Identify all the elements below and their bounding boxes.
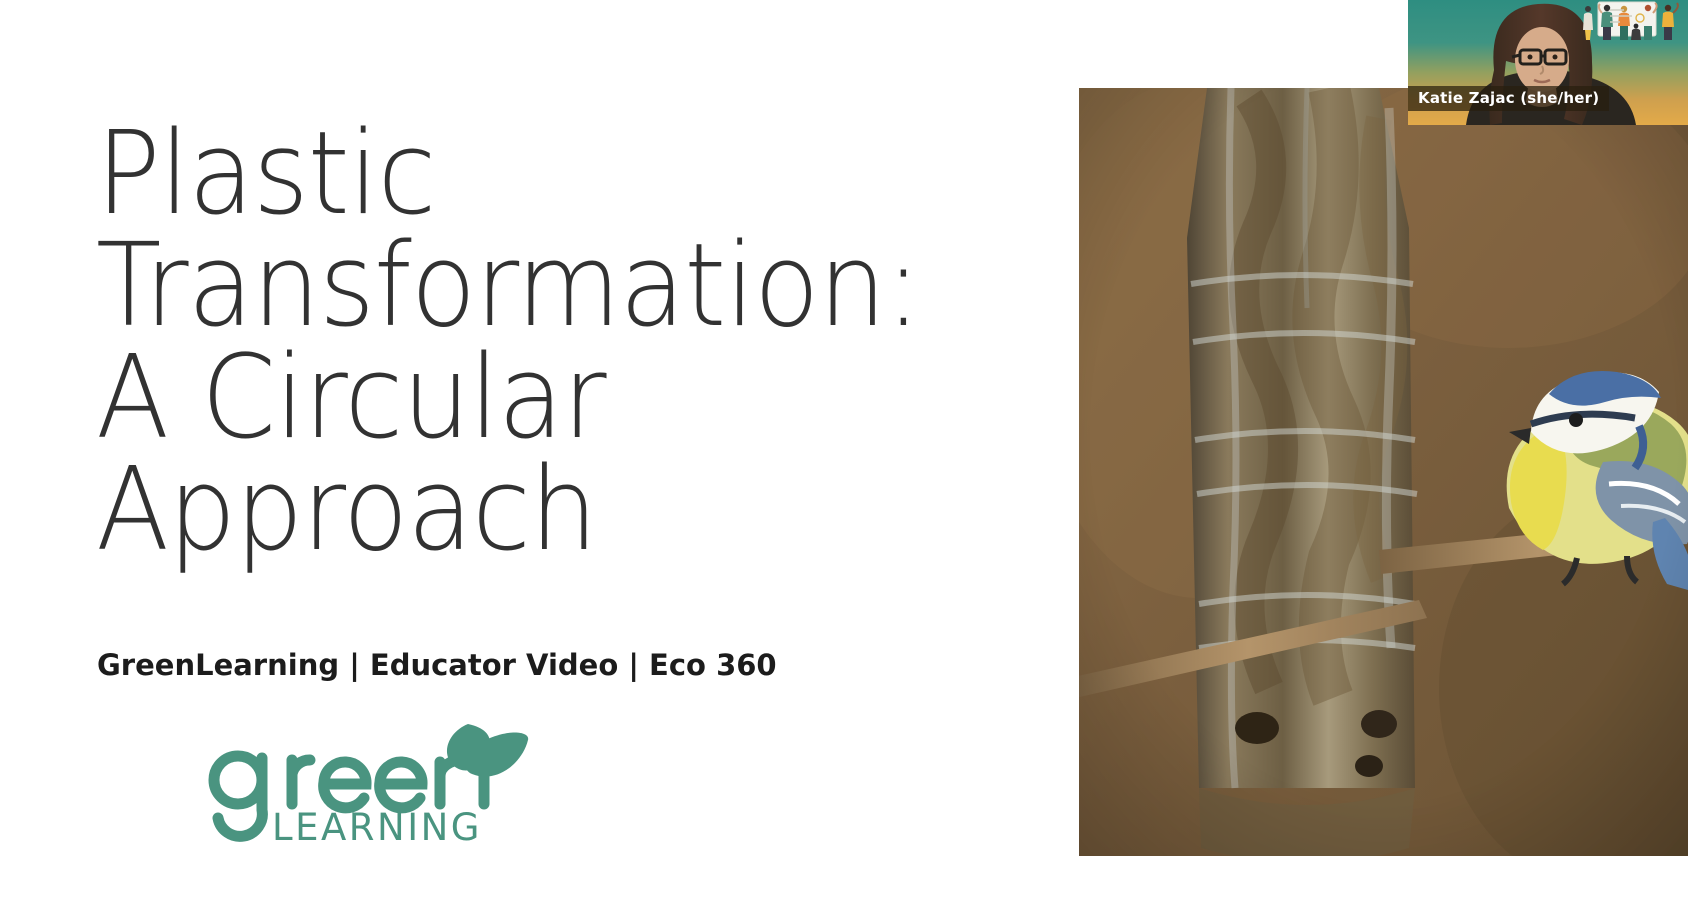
slide-photo — [1079, 88, 1688, 856]
presentation-slide: Plastic Transformation: A Circular Appro… — [0, 0, 1688, 920]
title-line-1: Plastic — [96, 118, 1007, 230]
people-whiteboard-illustration — [1580, 0, 1686, 48]
slide-subtitle: GreenLearning | Educator Video | Eco 360 — [97, 648, 777, 682]
title-line-2: Transformation: — [96, 230, 1007, 342]
greenlearning-logo: LEARNING — [200, 718, 530, 848]
participant-name-label: Katie Zajac (she/her) — [1408, 86, 1609, 111]
page-title: Plastic Transformation: A Circular Appro… — [96, 118, 1076, 566]
video-participant-tile[interactable]: Katie Zajac (she/her) — [1408, 0, 1688, 125]
logo-secondary-text: LEARNING — [272, 806, 482, 848]
title-line-3: A Circular — [96, 342, 1007, 454]
title-line-4: Approach — [96, 454, 1007, 566]
